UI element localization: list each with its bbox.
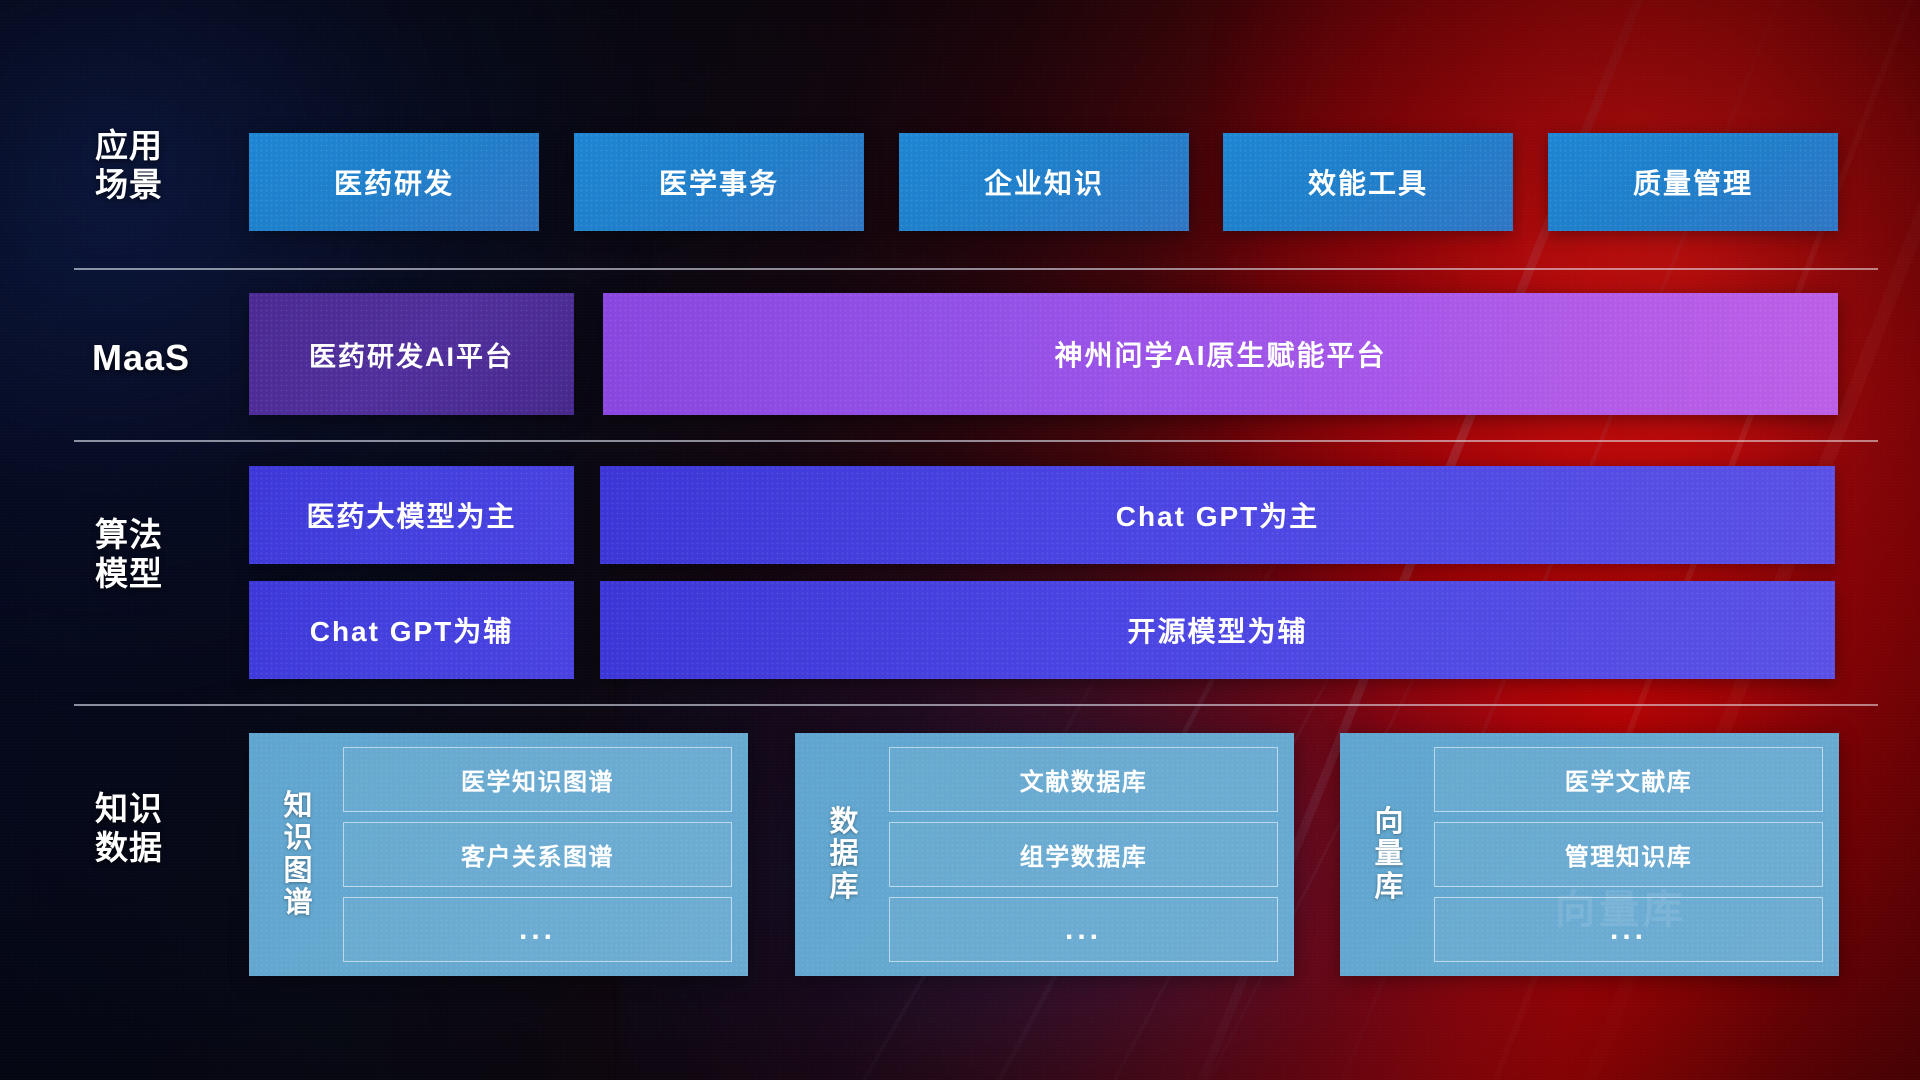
maas-box-label: 神州问学AI原生赋能平台: [1054, 334, 1386, 374]
knowledge-group-items: 医学文献库 管理知识库 ...: [1434, 747, 1823, 962]
row-label-application: 应用 场景: [95, 127, 225, 205]
knowledge-item-label: 管理知识库: [1565, 837, 1693, 872]
vertical-label-char: 识: [283, 822, 312, 854]
maas-box-medicine-rd-platform[interactable]: 医药研发AI平台: [249, 293, 574, 415]
knowledge-item[interactable]: 文献数据库: [889, 747, 1278, 812]
app-box-medical-affairs[interactable]: 医学事务: [574, 133, 864, 231]
divider-maas-algorithm: [74, 440, 1878, 442]
knowledge-item-label: ...: [1610, 913, 1647, 947]
knowledge-item-label: 文献数据库: [1020, 762, 1148, 797]
architecture-diagram: 应用 场景 医药研发 医学事务 企业知识 效能工具 质量管理 MaaS 医药研发…: [0, 0, 1920, 1080]
knowledge-item-more[interactable]: ...: [1434, 897, 1823, 962]
divider-algorithm-knowledge: [74, 704, 1878, 706]
knowledge-group-items: 文献数据库 组学数据库 ...: [889, 747, 1278, 962]
algo-box-chatgpt-primary[interactable]: Chat GPT为主: [600, 466, 1835, 564]
app-box-quality-management[interactable]: 质量管理: [1548, 133, 1838, 231]
vertical-label-char: 知: [283, 790, 312, 822]
knowledge-item-label: ...: [519, 913, 556, 947]
vertical-label-char: 数: [829, 806, 858, 838]
vertical-label-char: 量: [1374, 838, 1403, 870]
algo-box-medicine-large-model-primary[interactable]: 医药大模型为主: [249, 466, 574, 564]
algo-box-opensource-model-secondary[interactable]: 开源模型为辅: [600, 581, 1835, 679]
knowledge-group-database[interactable]: 数据库 文献数据库 组学数据库 ...: [795, 733, 1294, 976]
knowledge-item[interactable]: 管理知识库: [1434, 822, 1823, 887]
knowledge-group-vertical-label: 向量库: [1356, 747, 1422, 962]
vertical-label-char: 据: [829, 838, 858, 870]
knowledge-group-vertical-label: 数据库: [811, 747, 877, 962]
divider-application-maas: [74, 268, 1878, 270]
knowledge-item-label: ...: [1065, 913, 1102, 947]
vertical-label-char: 图: [283, 855, 312, 887]
knowledge-group-items: 医学知识图谱 客户关系图谱 ...: [343, 747, 732, 962]
maas-box-shenzhou-wenxue-platform[interactable]: 神州问学AI原生赋能平台: [603, 293, 1838, 415]
knowledge-item-more[interactable]: ...: [343, 897, 732, 962]
row-label-maas: MaaS: [92, 337, 272, 379]
vertical-label-char: 库: [829, 871, 858, 903]
knowledge-group-vector-store[interactable]: 向量库 医学文献库 管理知识库 ... 向量库: [1340, 733, 1839, 976]
algo-box-chatgpt-secondary[interactable]: Chat GPT为辅: [249, 581, 574, 679]
knowledge-item-label: 医学文献库: [1565, 762, 1693, 797]
app-box-label: 效能工具: [1308, 162, 1428, 202]
knowledge-item-label: 组学数据库: [1020, 837, 1148, 872]
knowledge-item-label: 客户关系图谱: [461, 837, 614, 872]
vertical-label-char: 库: [1374, 871, 1403, 903]
algo-box-label: 医药大模型为主: [306, 495, 516, 535]
knowledge-item-more[interactable]: ...: [889, 897, 1278, 962]
knowledge-group-vertical-label: 知识图谱: [265, 747, 331, 962]
knowledge-item[interactable]: 客户关系图谱: [343, 822, 732, 887]
vertical-label-char: 谱: [283, 887, 312, 919]
app-box-label: 医学事务: [659, 162, 779, 202]
row-label-knowledge: 知识 数据: [95, 790, 225, 868]
knowledge-item[interactable]: 医学知识图谱: [343, 747, 732, 812]
app-box-label: 企业知识: [984, 162, 1104, 202]
knowledge-item-label: 医学知识图谱: [461, 762, 614, 797]
app-box-enterprise-knowledge[interactable]: 企业知识: [899, 133, 1189, 231]
row-label-algorithm: 算法 模型: [95, 516, 225, 594]
app-box-medicine-rd[interactable]: 医药研发: [249, 133, 539, 231]
vertical-label-char: 向: [1374, 806, 1403, 838]
app-box-efficiency-tools[interactable]: 效能工具: [1223, 133, 1513, 231]
knowledge-item[interactable]: 医学文献库: [1434, 747, 1823, 812]
app-box-label: 质量管理: [1633, 162, 1753, 202]
algo-box-label: Chat GPT为辅: [310, 610, 514, 650]
algo-box-label: Chat GPT为主: [1116, 495, 1320, 535]
knowledge-item[interactable]: 组学数据库: [889, 822, 1278, 887]
knowledge-group-graph[interactable]: 知识图谱 医学知识图谱 客户关系图谱 ...: [249, 733, 748, 976]
maas-box-label: 医药研发AI平台: [309, 335, 514, 374]
algo-box-label: 开源模型为辅: [1127, 610, 1307, 650]
app-box-label: 医药研发: [334, 162, 454, 202]
